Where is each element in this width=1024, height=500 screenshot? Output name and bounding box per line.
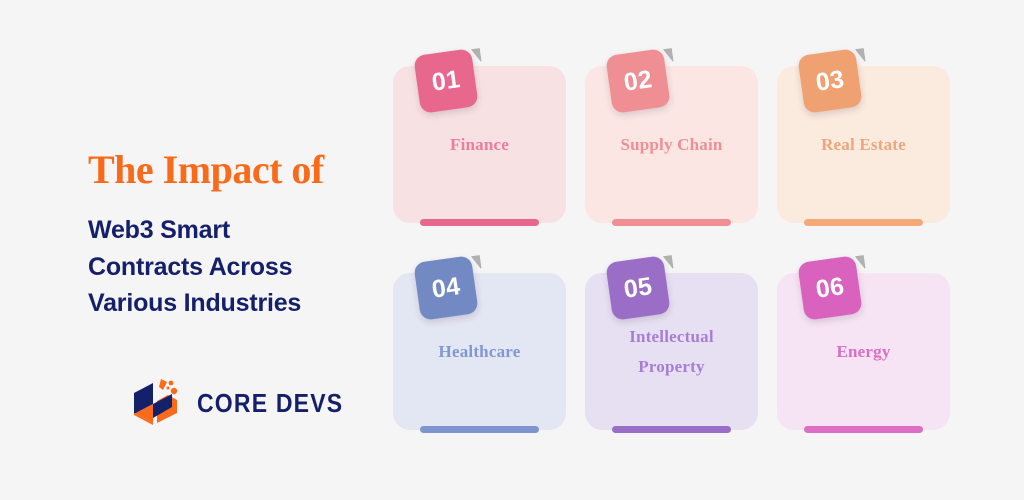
card-accent-bar (420, 426, 539, 433)
badge-fold-icon (855, 48, 866, 64)
badge-fold-icon (663, 48, 674, 64)
industry-card-real-estate[interactable]: 03 Real Estate (777, 66, 950, 223)
infographic-canvas: The Impact of Web3 Smart Contracts Acros… (0, 0, 1024, 500)
industry-card-grid: 01 Finance 02 Supply Chain 03 Real Estat… (393, 66, 951, 430)
industry-card-supply-chain[interactable]: 02 Supply Chain (585, 66, 758, 223)
industry-card-energy[interactable]: 06 Energy (777, 273, 950, 430)
headline-script-line: The Impact of (88, 150, 368, 190)
card-accent-bar (804, 426, 923, 433)
brand-logo: CORE DEVS (130, 377, 343, 429)
card-accent-bar (804, 219, 923, 226)
card-accent-bar (612, 426, 731, 433)
card-accent-bar (420, 219, 539, 226)
card-label: Real Estate (787, 66, 940, 223)
badge-fold-icon (855, 255, 866, 271)
card-label: Healthcare (403, 273, 556, 430)
badge-fold-icon (471, 255, 482, 271)
card-label: Intellectual Property (595, 273, 748, 430)
card-accent-bar (612, 219, 731, 226)
heading-block: The Impact of Web3 Smart Contracts Acros… (88, 150, 368, 322)
core-devs-cube-logo-icon (130, 377, 184, 429)
card-label: Energy (787, 273, 940, 430)
card-label: Supply Chain (595, 66, 748, 223)
logo-wordmark: CORE DEVS (197, 390, 343, 416)
card-label: Finance (403, 66, 556, 223)
headline-main: Web3 Smart Contracts Across Various Indu… (88, 212, 368, 322)
badge-fold-icon (663, 255, 674, 271)
headline-line-1: Web3 Smart (88, 212, 368, 249)
industry-card-healthcare[interactable]: 04 Healthcare (393, 273, 566, 430)
headline-line-2: Contracts Across (88, 249, 368, 286)
industry-card-intellectual-property[interactable]: 05 Intellectual Property (585, 273, 758, 430)
industry-card-finance[interactable]: 01 Finance (393, 66, 566, 223)
badge-fold-icon (471, 48, 482, 64)
headline-line-3: Various Industries (88, 285, 368, 322)
